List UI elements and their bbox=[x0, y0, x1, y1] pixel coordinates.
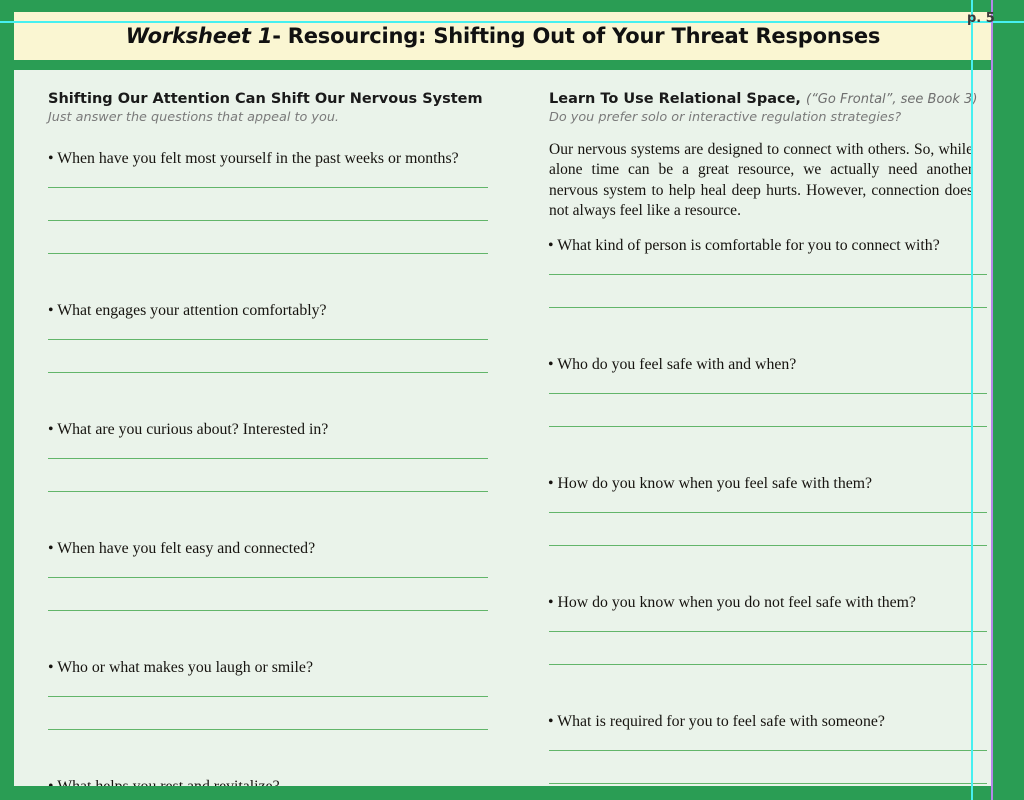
answer-line[interactable] bbox=[48, 220, 488, 221]
right-column-subheading: Do you prefer solo or interactive regula… bbox=[549, 110, 977, 125]
answer-line[interactable] bbox=[549, 426, 987, 427]
question-text: • Who do you feel safe with and when? bbox=[548, 354, 986, 375]
answer-line[interactable] bbox=[549, 664, 987, 665]
question-text: • When have you felt easy and connected? bbox=[48, 538, 486, 559]
answer-line[interactable] bbox=[48, 372, 488, 373]
guide-horizontal-cyan bbox=[0, 21, 1024, 23]
answer-line[interactable] bbox=[549, 631, 987, 632]
answer-line[interactable] bbox=[48, 696, 488, 697]
answer-line[interactable] bbox=[549, 750, 987, 751]
worksheet-label: Worksheet 1 bbox=[126, 24, 272, 48]
left-column-heading: Shifting Our Attention Can Shift Our Ner… bbox=[48, 90, 483, 108]
answer-line[interactable] bbox=[48, 729, 488, 730]
question-text: • How do you know when you feel safe wit… bbox=[548, 473, 986, 494]
left-column-subheading: Just answer the questions that appeal to… bbox=[48, 110, 483, 125]
left-column: Shifting Our Attention Can Shift Our Ner… bbox=[40, 70, 488, 786]
right-column-heading-text: Learn To Use Relational Space, bbox=[549, 91, 801, 107]
question-text: • When have you felt most yourself in th… bbox=[48, 148, 486, 169]
right-column-heading: Learn To Use Relational Space, (“Go Fron… bbox=[549, 90, 977, 108]
title-separator: - bbox=[272, 24, 281, 48]
worksheet-body: Shifting Our Attention Can Shift Our Ner… bbox=[14, 70, 992, 786]
page-title: Worksheet 1-Resourcing: Shifting Out of … bbox=[126, 24, 880, 48]
page-number-label: p. 5 bbox=[967, 11, 995, 26]
question-text: • Who or what makes you laugh or smile? bbox=[48, 657, 486, 678]
answer-line[interactable] bbox=[549, 274, 987, 275]
answer-line[interactable] bbox=[549, 545, 987, 546]
worksheet-title-bar: Worksheet 1-Resourcing: Shifting Out of … bbox=[14, 12, 992, 60]
question-text: • How do you know when you do not feel s… bbox=[548, 592, 986, 613]
answer-line[interactable] bbox=[48, 491, 488, 492]
worksheet-page: Worksheet 1-Resourcing: Shifting Out of … bbox=[0, 0, 1024, 800]
answer-line[interactable] bbox=[48, 610, 488, 611]
answer-line[interactable] bbox=[48, 458, 488, 459]
answer-line[interactable] bbox=[549, 512, 987, 513]
question-text: • What engages your attention comfortabl… bbox=[48, 300, 486, 321]
question-text: • What is required for you to feel safe … bbox=[548, 711, 986, 732]
answer-line[interactable] bbox=[549, 307, 987, 308]
question-text: • What helps you rest and revitalize? bbox=[48, 776, 486, 786]
answer-line[interactable] bbox=[549, 393, 987, 394]
answer-line[interactable] bbox=[48, 339, 488, 340]
answer-line[interactable] bbox=[48, 253, 488, 254]
right-column-heading-note: (“Go Frontal”, see Book 3) bbox=[806, 92, 977, 107]
guide-vertical-purple bbox=[991, 0, 993, 800]
worksheet-title-main: Resourcing: Shifting Out of Your Threat … bbox=[288, 24, 880, 48]
question-text: • What kind of person is comfortable for… bbox=[548, 235, 986, 256]
answer-line[interactable] bbox=[48, 187, 488, 188]
guide-vertical-cyan bbox=[971, 0, 973, 800]
right-column: Learn To Use Relational Space, (“Go Fron… bbox=[540, 70, 973, 786]
answer-line[interactable] bbox=[48, 577, 488, 578]
question-text: • What are you curious about? Interested… bbox=[48, 419, 486, 440]
right-column-intro-paragraph: Our nervous systems are designed to conn… bbox=[549, 140, 973, 221]
answer-line[interactable] bbox=[549, 783, 987, 784]
